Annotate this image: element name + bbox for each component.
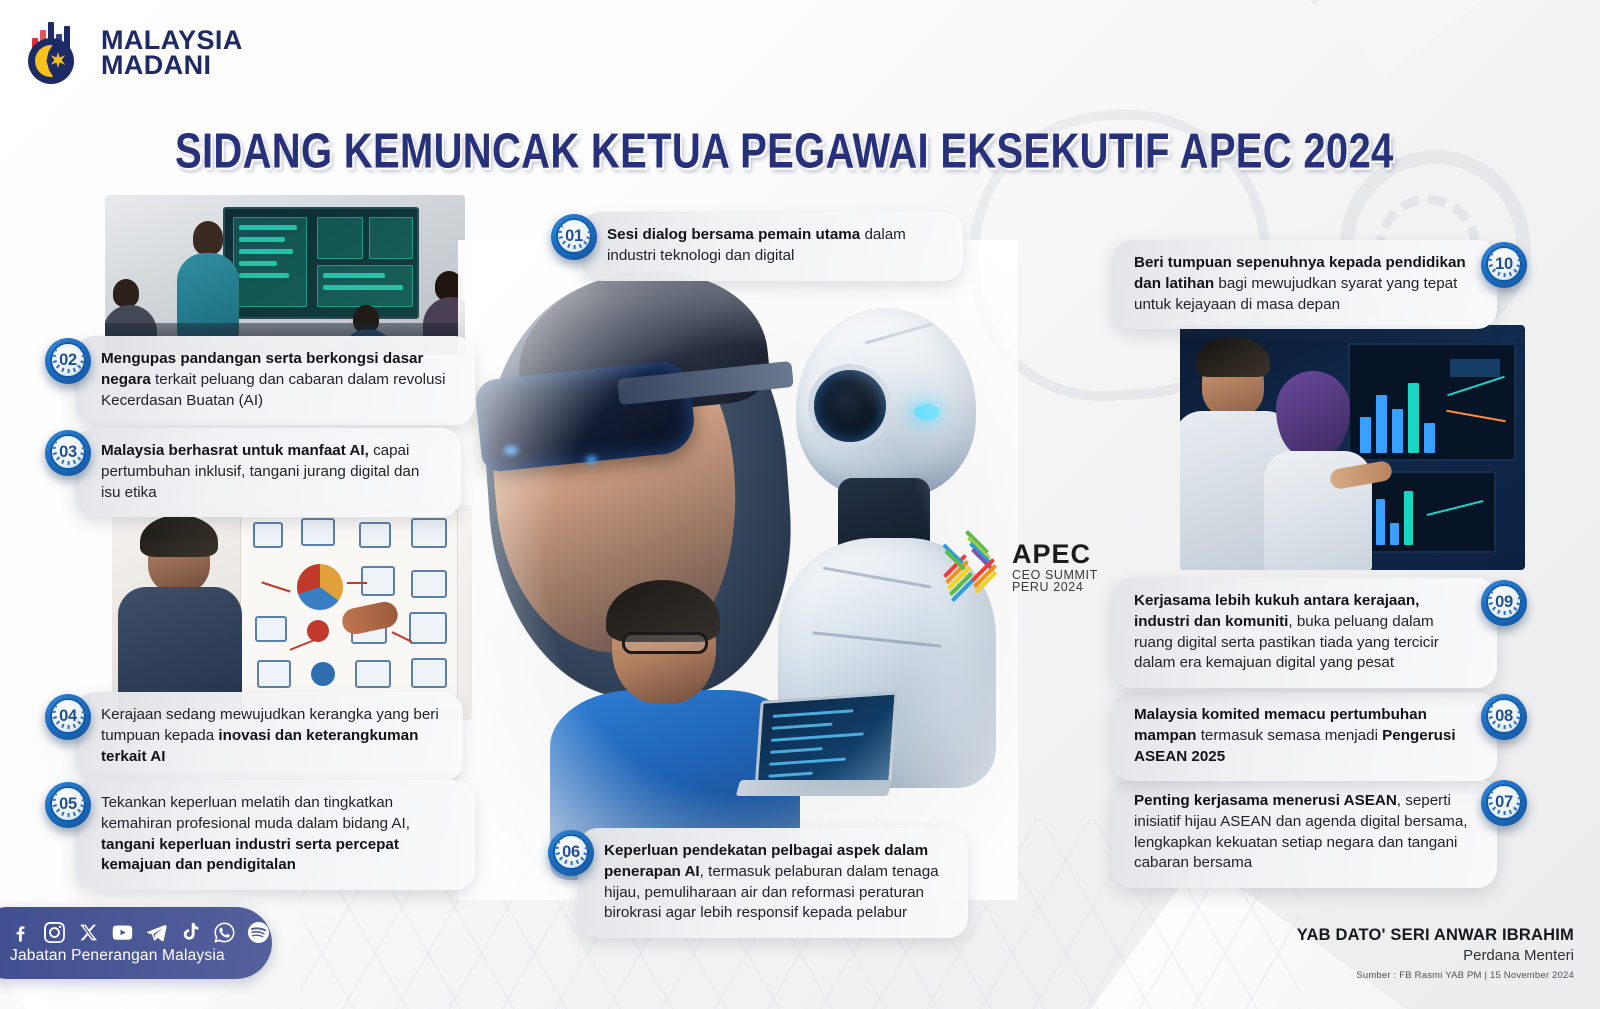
callout-10[interactable]: 10 Beri tumpuan sepenuhnya kepada pendid…: [1112, 240, 1527, 329]
callout-08-text: Malaysia komited memacu pertumbuhan mamp…: [1112, 692, 1497, 781]
apec-subtitle-2: PERU 2024: [1012, 581, 1098, 594]
credit-block: YAB DATO' SERI ANWAR IBRAHIM Perdana Men…: [1297, 926, 1574, 981]
agency-label: Jabatan Penerangan Malaysia: [10, 947, 272, 965]
callout-05-bold: tangani keperluan industri serta percepa…: [101, 836, 399, 874]
callout-08-rest: termasuk semasa menjadi: [1196, 727, 1382, 744]
vr-led-glow-2: [586, 456, 597, 464]
page-title: SIDANG KEMUNCAK KETUA PEGAWAI EKSEKUTIF …: [175, 125, 1394, 180]
laptop-icon: [754, 691, 897, 792]
callout-05-rest: Tekankan keperluan melatih dan tingkatka…: [101, 794, 410, 832]
photo-whiteboard-diagram: [112, 505, 472, 720]
callout-03[interactable]: 03 Malaysia berhasrat untuk manfaat AI, …: [45, 428, 461, 517]
callout-10-text: Beri tumpuan sepenuhnya kepada pendidika…: [1112, 240, 1497, 329]
vr-led-glow: [504, 446, 518, 455]
photo-researchers-data-monitors: [1180, 325, 1525, 570]
callout-05[interactable]: 05 Tekankan keperluan melatih dan tingka…: [45, 780, 475, 890]
callout-03-bold: Malaysia berhasrat untuk manfaat AI,: [101, 442, 369, 459]
callout-07-text: Penting kerjasama menerusi ASEAN, sepert…: [1112, 778, 1497, 888]
malaysia-madani-logo: MALAYSIA MADANI: [26, 22, 243, 84]
callout-09[interactable]: 09 Kerjasama lebih kukuh antara kerajaan…: [1112, 578, 1527, 688]
robot-eye-glow: [914, 404, 940, 420]
whatsapp-icon[interactable]: [214, 922, 235, 943]
callout-02-text: Mengupas pandangan serta berkongsi dasar…: [75, 336, 475, 425]
callout-01-text: Sesi dialog bersama pemain utama dalam i…: [581, 212, 963, 281]
badge-number-06: 06: [548, 830, 594, 876]
callout-06-text: Keperluan pendekatan pelbagai aspek dala…: [578, 828, 968, 938]
apec-ribbon-icon: [938, 534, 1004, 600]
malaysia-madani-crescent-star-icon: [26, 22, 88, 84]
callout-09-text: Kerjasama lebih kukuh antara kerajaan, i…: [1112, 578, 1497, 688]
credit-name: YAB DATO' SERI ANWAR IBRAHIM: [1297, 926, 1574, 945]
callout-02[interactable]: 02 Mengupas pandangan serta berkongsi da…: [45, 336, 475, 425]
social-icon-row: [10, 922, 272, 943]
eyeglasses-icon: [622, 632, 708, 654]
badge-number-09: 09: [1481, 580, 1527, 626]
telegram-icon[interactable]: [146, 922, 167, 943]
tiktok-icon[interactable]: [180, 922, 201, 943]
callout-07[interactable]: 07 Penting kerjasama menerusi ASEAN, sep…: [1112, 778, 1527, 888]
facebook-icon[interactable]: [10, 922, 31, 943]
callout-01-bold: Sesi dialog bersama pemain utama: [607, 226, 860, 243]
badge-number-08: 08: [1481, 694, 1527, 740]
callout-05-text: Tekankan keperluan melatih dan tingkatka…: [75, 780, 475, 890]
badge-number-04: 04: [45, 694, 91, 740]
callout-08[interactable]: 08 Malaysia komited memacu pertumbuhan m…: [1112, 692, 1527, 781]
badge-number-10: 10: [1481, 242, 1527, 288]
infographic-canvas: MALAYSIA MADANI SIDANG KEMUNCAK KETUA PE…: [0, 0, 1600, 1009]
credit-title: Perdana Menteri: [1297, 947, 1574, 964]
x-twitter-icon[interactable]: [78, 922, 99, 943]
logo-line-2: MADANI: [101, 53, 243, 78]
instagram-icon[interactable]: [44, 922, 65, 943]
callout-03-text: Malaysia berhasrat untuk manfaat AI, cap…: [75, 428, 461, 517]
photo-meeting-presentation: [105, 195, 465, 355]
footer-social-bar: Jabatan Penerangan Malaysia: [0, 907, 272, 979]
badge-number-05: 05: [45, 782, 91, 828]
robot-ear-port-icon: [808, 364, 892, 448]
badge-number-02: 02: [45, 338, 91, 384]
badge-number-07: 07: [1481, 780, 1527, 826]
spotify-icon[interactable]: [248, 922, 269, 943]
callout-04-text: Kerajaan sedang mewujudkan kerangka yang…: [75, 692, 463, 781]
badge-number-03: 03: [45, 430, 91, 476]
source-line: Sumber : FB Rasmi YAB PM | 15 November 2…: [1297, 970, 1574, 981]
apec-ceo-summit-logo: APEC CEO SUMMIT PERU 2024: [938, 528, 1098, 606]
callout-01[interactable]: 01 Sesi dialog bersama pemain utama dala…: [551, 212, 963, 281]
apec-wordmark: APEC: [1012, 541, 1098, 568]
youtube-icon[interactable]: [112, 922, 133, 943]
callout-07-bold: Penting kerjasama menerusi ASEAN: [1134, 792, 1397, 809]
callout-06[interactable]: 06 Keperluan pendekatan pelbagai aspek d…: [548, 828, 968, 938]
badge-number-01: 01: [551, 214, 597, 260]
callout-04[interactable]: 04 Kerajaan sedang mewujudkan kerangka y…: [45, 692, 463, 781]
hero-collage-vr-robot: [468, 250, 1008, 890]
callout-02-rest: terkait peluang dan cabaran dalam revolu…: [101, 371, 445, 409]
